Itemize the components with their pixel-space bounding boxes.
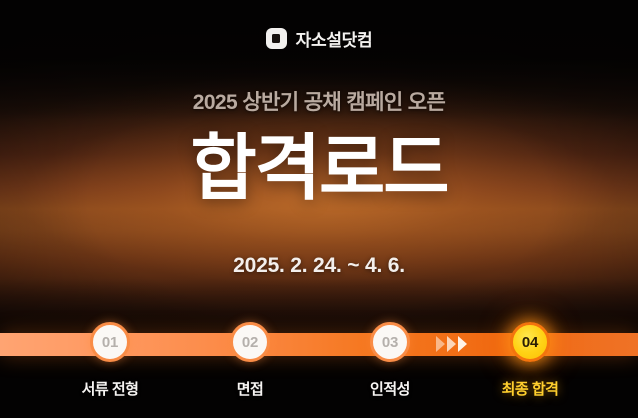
step-number-badge-04: 04 <box>510 322 550 362</box>
progress-step-01[interactable]: 01 서류 전형 <box>50 322 170 399</box>
step-label-01: 서류 전형 <box>50 378 170 399</box>
progress-step-04[interactable]: 04 최종 합격 <box>470 322 590 399</box>
step-label-02: 면접 <box>190 378 310 399</box>
step-label-03: 인적성 <box>330 378 450 399</box>
chevron-right-icon-1 <box>436 336 445 352</box>
triple-chevron-right-icon <box>436 336 467 352</box>
progress-step-03[interactable]: 03 인적성 <box>330 322 450 399</box>
step-label-04: 최종 합격 <box>470 378 590 399</box>
chevron-right-icon-3 <box>458 336 467 352</box>
chevron-right-icon-2 <box>447 336 456 352</box>
step-number-badge-03: 03 <box>370 322 410 362</box>
campaign-banner: 자소설닷컴 2025 상반기 공채 캠페인 오픈 합격로드 2025. 2. 2… <box>0 0 638 418</box>
step-number-badge-02: 02 <box>230 322 270 362</box>
progress-step-02[interactable]: 02 면접 <box>190 322 310 399</box>
step-number-badge-01: 01 <box>90 322 130 362</box>
progress-steps: 01 서류 전형 02 면접 03 인적성 04 최종 합격 <box>0 0 638 418</box>
